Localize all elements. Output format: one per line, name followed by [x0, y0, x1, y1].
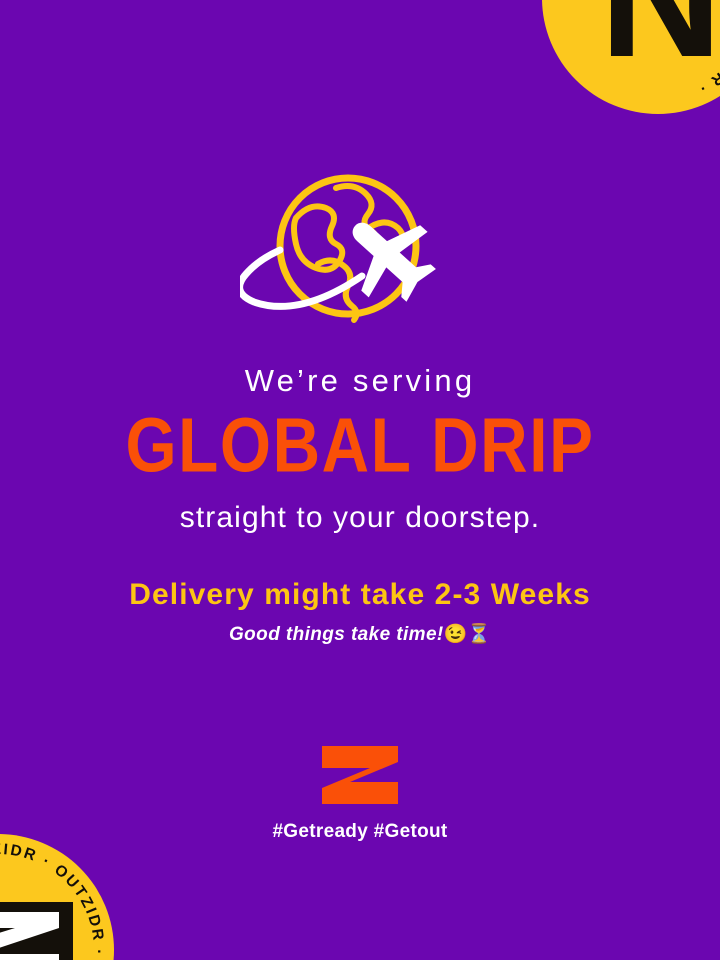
delivery-tagline: Good things take time!😉⏳: [0, 625, 720, 646]
headline-block: We’re serving GLOBAL DRIP straight to yo…: [0, 364, 720, 646]
brand-stamp-bottom-left: OUTZIDR · OUTZIDR · OUTZIDR · OUTZIDR · …: [0, 834, 114, 960]
stamp-letter: N: [600, 0, 717, 83]
page-title: GLOBAL DRIP: [0, 406, 720, 487]
promo-poster: OUTZIDR · OUTZIDR · OUTZIDR · OUTZIDR · …: [0, 0, 720, 960]
subtitle-text: straight to your doorstep.: [0, 501, 720, 534]
eyebrow-text: We’re serving: [0, 364, 720, 398]
brand-stamp-top-right: OUTZIDR · OUTZIDR · OUTZIDR · OUTZIDR · …: [542, 0, 720, 114]
tagline-emoji: 😉⏳: [444, 624, 491, 645]
tagline-text: Good things take time!: [229, 624, 444, 645]
stamp-core-mark: OUTZIDR: [0, 902, 73, 960]
globe-airplane-illustration: [0, 168, 720, 343]
footer-block: #Getready #Getout: [0, 744, 720, 843]
delivery-notice: Delivery might take 2-3 Weeks: [0, 578, 720, 611]
brand-z-logo-icon: [320, 744, 400, 806]
hashtags-text: #Getready #Getout: [0, 821, 720, 843]
